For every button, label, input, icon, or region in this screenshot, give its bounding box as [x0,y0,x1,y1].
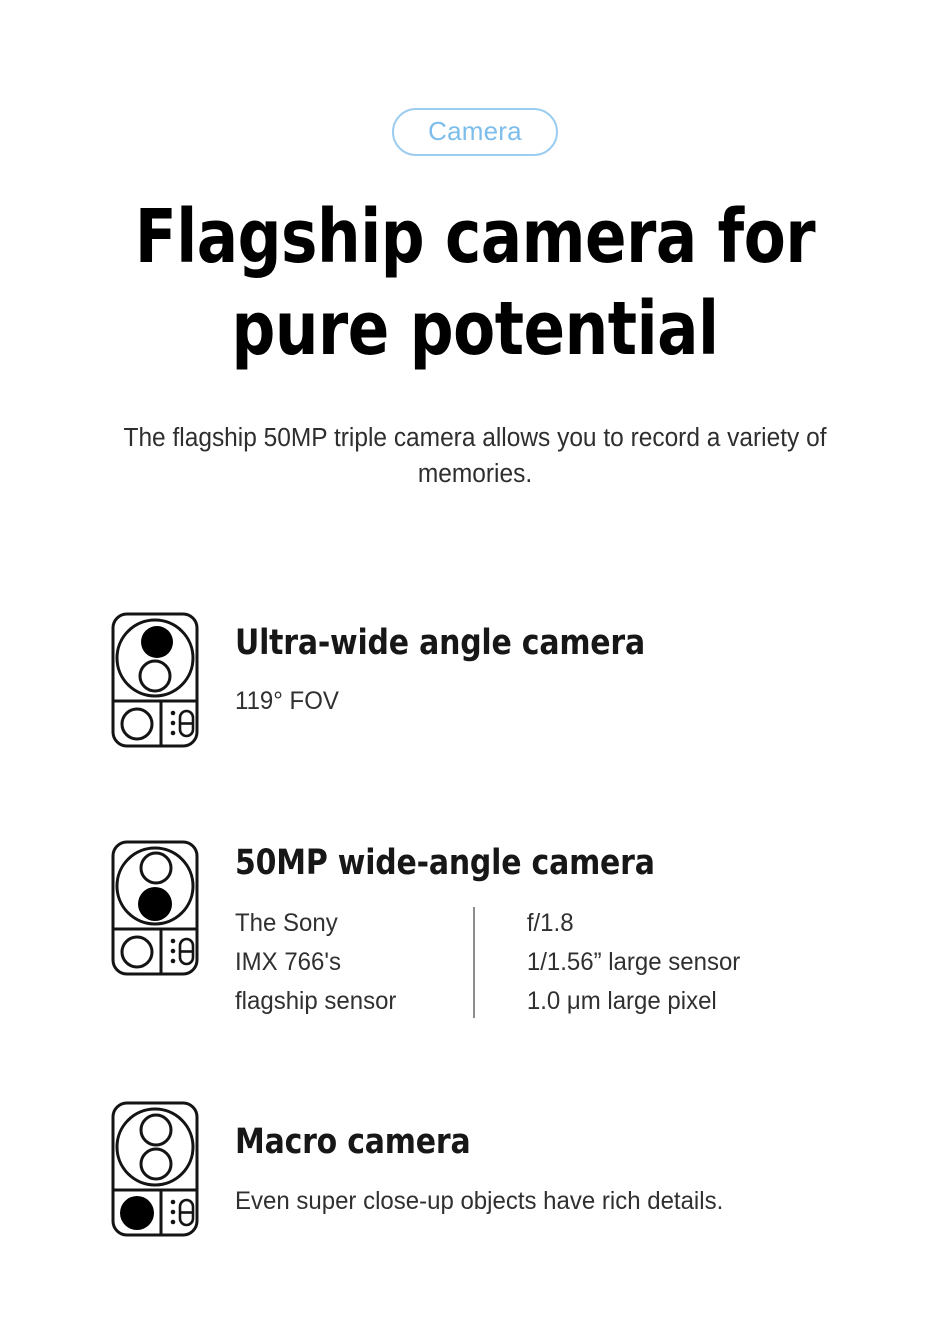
spec-column-right: f/1.8 1/1.56” large sensor 1.0 μm large … [475,904,740,1021]
feature-body: 50MP wide-angle camera The Sony IMX 766'… [199,838,950,1022]
camera-module-macro-icon [111,1099,199,1237]
spec-columns: The Sony IMX 766's flagship sensor f/1.8… [235,882,950,1021]
spec-line: 1/1.56” large sensor [527,943,740,982]
feature-ultra-wide: Ultra-wide angle camera 119° FOV [111,610,950,748]
page-subtitle: The flagship 50MP triple camera allows y… [19,376,931,492]
camera-module-wide-icon [111,838,199,976]
feature-title: Macro camera [235,1123,914,1162]
feature-title: Ultra-wide angle camera [235,624,914,663]
feature-subtext: 119° FOV [235,662,921,718]
feature-body: Ultra-wide angle camera 119° FOV [199,610,950,719]
spec-line: IMX 766's [235,943,463,982]
section-badge-camera: Camera [392,108,558,156]
feature-wide-angle: 50MP wide-angle camera The Sony IMX 766'… [111,838,950,1022]
spec-line: flagship sensor [235,982,463,1021]
spec-line: f/1.8 [527,904,740,943]
page-title: Flagship camera for pure potential [38,156,912,376]
feature-macro: Macro camera Even super close-up objects… [111,1099,950,1237]
feature-list: Ultra-wide angle camera 119° FOV [0,610,950,1238]
camera-feature-page: Camera Flagship camera for pure potentia… [0,0,950,1332]
feature-title: 50MP wide-angle camera [235,844,914,883]
badge-row: Camera [0,0,950,156]
feature-subtext: Even super close-up objects have rich de… [235,1162,921,1218]
camera-module-ultrawide-icon [111,610,199,748]
spec-line: 1.0 μm large pixel [527,982,740,1021]
feature-body: Macro camera Even super close-up objects… [199,1099,950,1218]
spec-line: The Sony [235,904,463,943]
spec-column-left: The Sony IMX 766's flagship sensor [235,904,463,1021]
